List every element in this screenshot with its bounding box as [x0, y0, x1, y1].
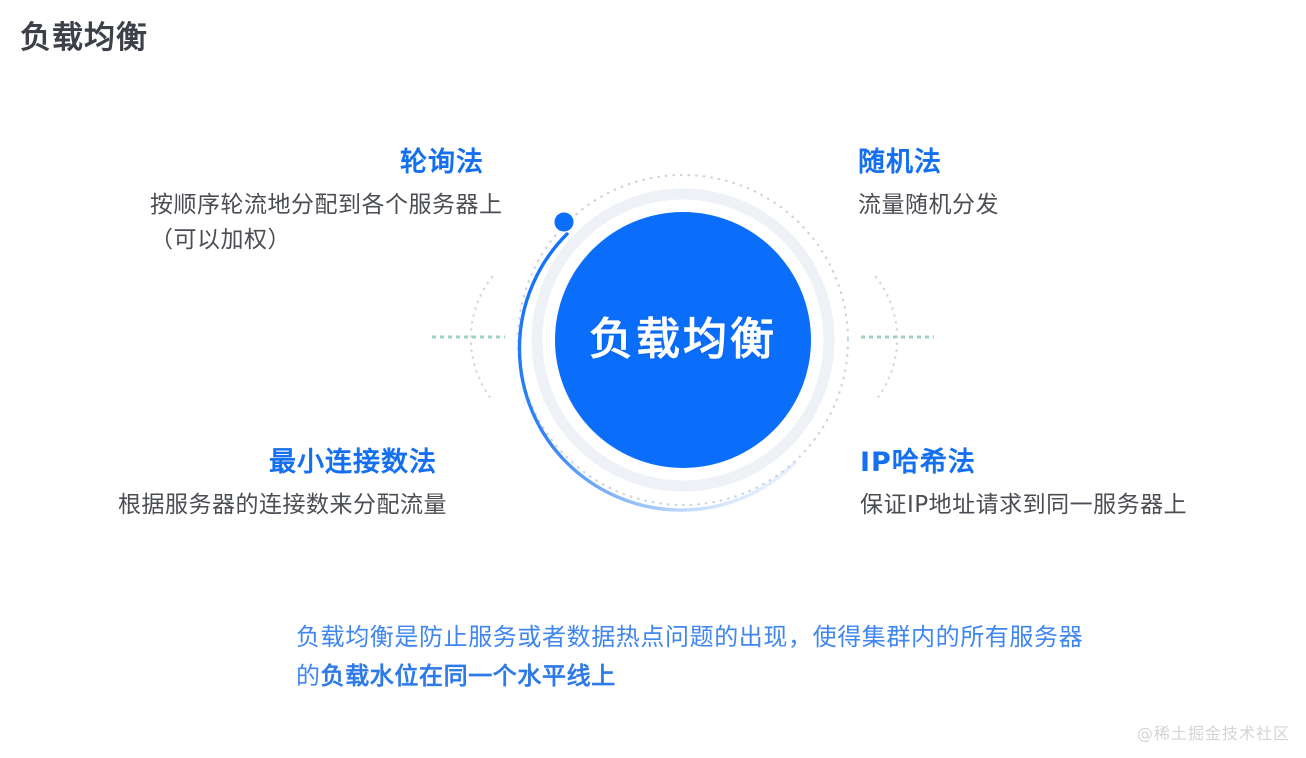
node-bottom-right-title: IP哈希法 [860, 446, 1280, 480]
dotted-guide-left [471, 277, 492, 400]
node-bottom-right: IP哈希法 保证IP地址请求到同一服务器上 [860, 446, 1280, 523]
diagram-stage: 负载均衡 轮询法 按顺序轮流地分配到各个服务器上（可以加权） 随机法 流量随机分… [0, 0, 1306, 600]
node-top-left-title: 轮询法 [150, 146, 510, 180]
node-bottom-left-title: 最小连接数法 [118, 446, 588, 480]
node-bottom-right-desc: 保证IP地址请求到同一服务器上 [860, 488, 1280, 523]
dotted-guide-right [876, 277, 897, 400]
summary-caption: 负载均衡是防止服务或者数据热点问题的出现，使得集群内的所有服务器 的负载水位在同… [296, 618, 1256, 696]
watermark: @稀土掘金技术社区 [1137, 720, 1290, 744]
summary-caption-line1: 负载均衡是防止服务或者数据热点问题的出现，使得集群内的所有服务器 [296, 623, 1083, 651]
node-top-left-desc: 按顺序轮流地分配到各个服务器上（可以加权） [150, 188, 510, 258]
node-bottom-left-desc: 根据服务器的连接数来分配流量 [118, 488, 588, 523]
center-hub: 负载均衡 [555, 212, 811, 468]
node-top-right: 随机法 流量随机分发 [858, 146, 1238, 223]
node-top-right-desc: 流量随机分发 [858, 188, 1238, 223]
summary-caption-line2-prefix: 的 [296, 662, 321, 690]
arc-start-dot [555, 213, 574, 232]
node-top-left: 轮询法 按顺序轮流地分配到各个服务器上（可以加权） [150, 146, 510, 258]
node-bottom-left: 最小连接数法 根据服务器的连接数来分配流量 [118, 446, 588, 523]
summary-caption-line2-strong: 负载水位在同一个水平线上 [321, 662, 616, 690]
node-top-right-title: 随机法 [858, 146, 1238, 180]
center-hub-label: 负载均衡 [589, 318, 777, 362]
slide-canvas: 负载均衡 [0, 0, 1306, 758]
